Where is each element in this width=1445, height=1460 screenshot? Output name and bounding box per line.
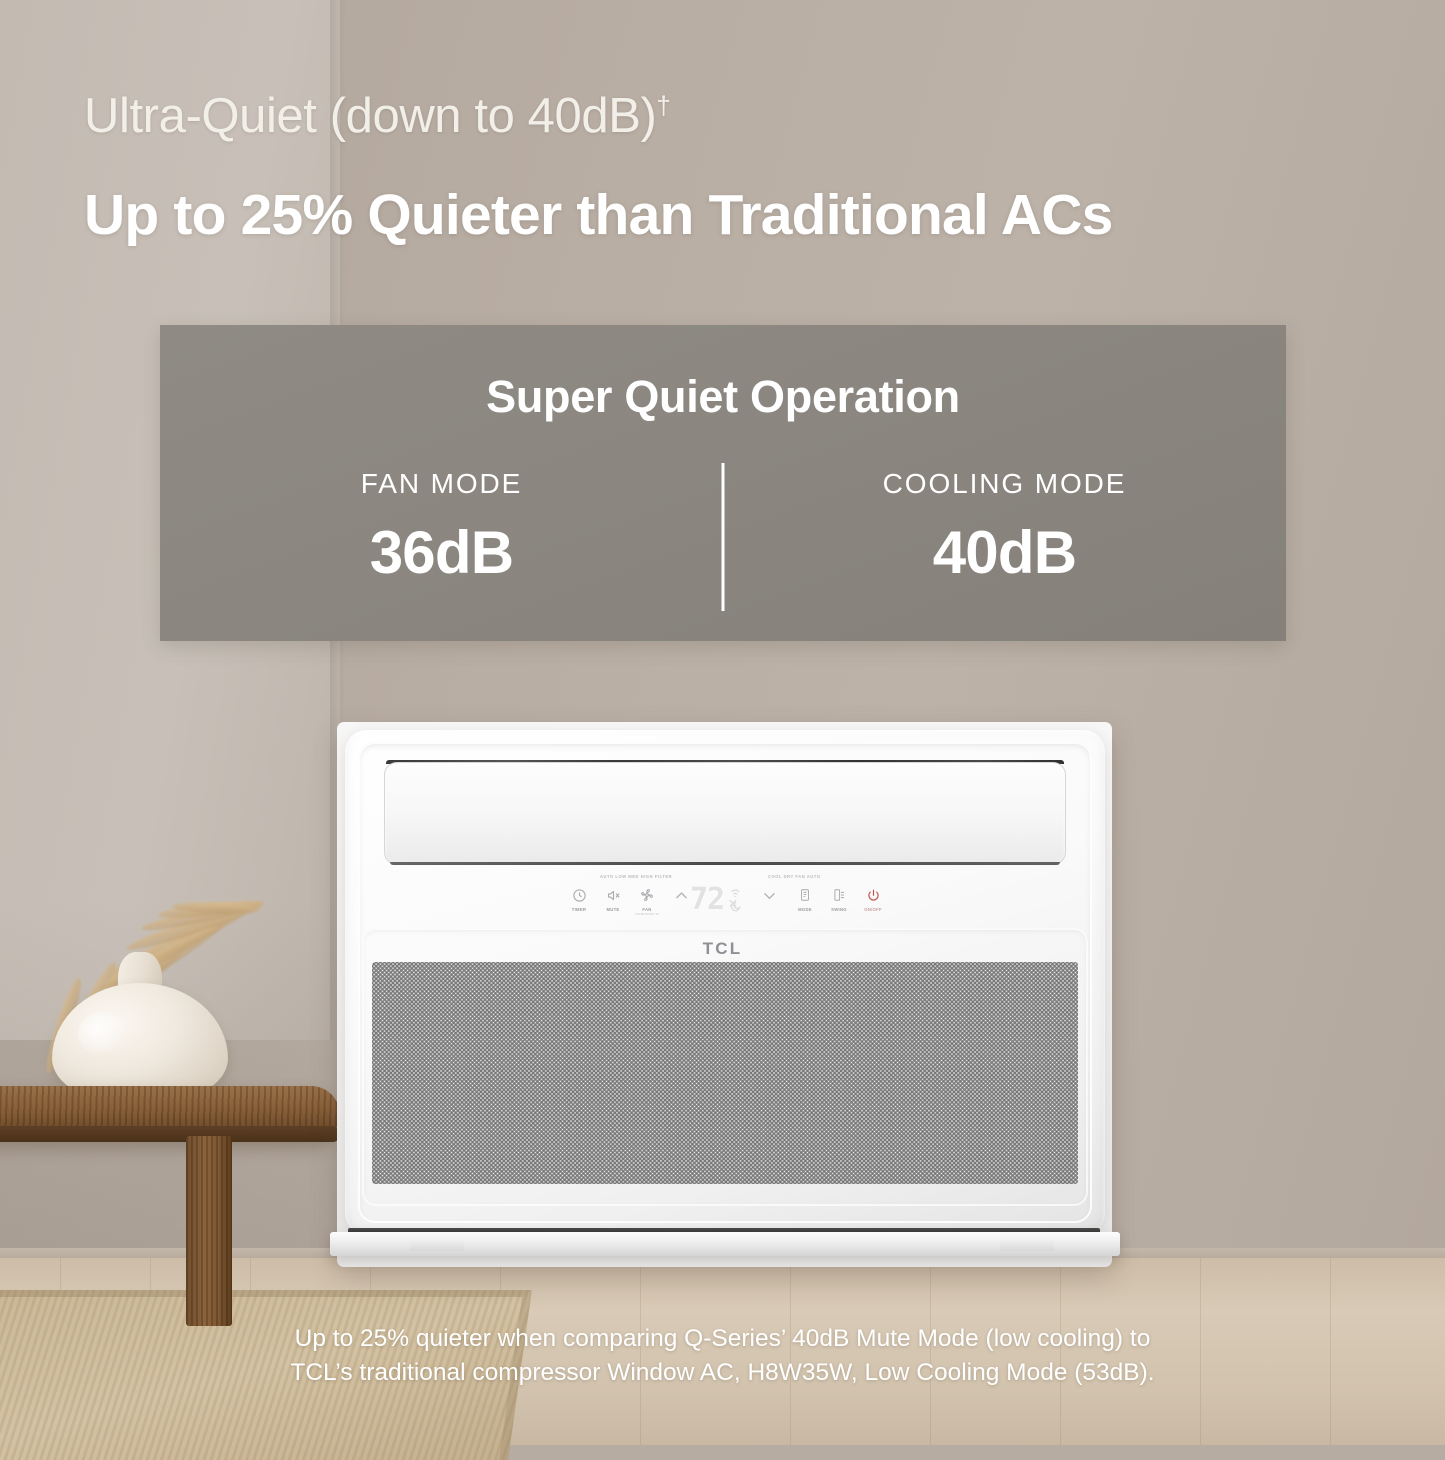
fan-button[interactable]: FAN FILTER RESET 3S (634, 885, 660, 916)
onoff-label: ON/OFF (860, 907, 886, 912)
ac-louver-bottom-edge (390, 862, 1060, 865)
swing-button[interactable]: SWING (826, 885, 852, 912)
ac-mesh-grille (372, 962, 1078, 1184)
sill-tab-left (410, 1240, 464, 1251)
timer-label: TIMER (566, 907, 592, 912)
cooling-mode-label: COOLING MODE (723, 468, 1286, 500)
kicker-label: Ultra-Quiet (down to 40dB) (84, 89, 656, 143)
ac-control-panel[interactable]: AUTO LOW MED HIGH FILTER COOL DRY FAN AU… (560, 874, 895, 930)
page-title: Up to 25% Quieter than Traditional ACs (84, 182, 1112, 248)
mode-button[interactable]: MODE (792, 885, 818, 912)
fan-mode-column: FAN MODE 36dB (160, 468, 723, 587)
side-table-leg (186, 1136, 232, 1326)
chevron-down-icon (756, 885, 782, 905)
mode-indicators: COOL DRY FAN AUTO (768, 874, 821, 879)
spec-panel-title: Super Quiet Operation (160, 371, 1286, 423)
kicker-text: Ultra-Quiet (down to 40dB)† (84, 88, 670, 144)
fan-icon (634, 885, 660, 905)
swing-label: SWING (826, 907, 852, 912)
power-icon (860, 885, 886, 905)
sill-tab-right (1000, 1240, 1054, 1251)
temperature-down-button[interactable] (756, 885, 782, 905)
vase-highlight (78, 1012, 126, 1056)
temperature-display: 72 (690, 885, 724, 915)
clock-icon (566, 885, 592, 905)
swing-icon (826, 885, 852, 905)
mute-label: MUTE (600, 907, 626, 912)
mute-button[interactable]: MUTE (600, 885, 626, 912)
spec-panel: Super Quiet Operation FAN MODE 36dB COOL… (160, 325, 1286, 641)
mode-icon (792, 885, 818, 905)
ac-air-louver (384, 762, 1066, 865)
cooling-mode-column: COOLING MODE 40dB (723, 468, 1286, 587)
fan-label: FAN (634, 907, 660, 912)
fan-speed-indicators: AUTO LOW MED HIGH FILTER (600, 874, 672, 879)
fan-mode-label: FAN MODE (160, 468, 723, 500)
cooling-mode-value: 40dB (723, 518, 1286, 587)
display-status-icons (728, 883, 744, 917)
speaker-mute-icon (600, 885, 626, 905)
power-button[interactable]: ON/OFF (860, 885, 886, 912)
fan-sublabel: FILTER RESET 3S (634, 913, 660, 916)
side-table-edge (0, 1126, 340, 1142)
dagger-symbol: † (656, 91, 670, 121)
mode-label: MODE (792, 907, 818, 912)
fan-mode-value: 36dB (160, 518, 723, 587)
timer-button[interactable]: TIMER (566, 885, 592, 912)
footnote-line-2: TCL’s traditional compressor Window AC, … (0, 1356, 1445, 1390)
footnote-line-1: Up to 25% quieter when comparing Q-Serie… (0, 1322, 1445, 1356)
footnote: Up to 25% quieter when comparing Q-Serie… (0, 1322, 1445, 1391)
